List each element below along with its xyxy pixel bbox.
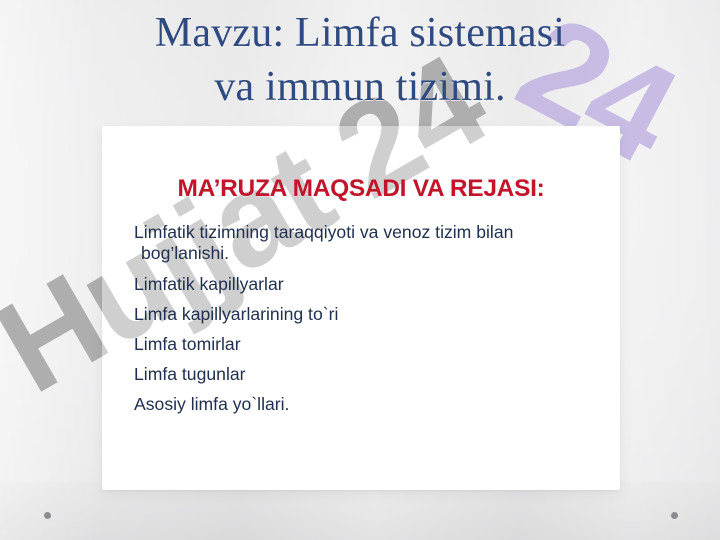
card-content: MA’RUZA MAQSADI VA REJASI: Limfatik tizi… [102, 126, 620, 490]
bottom-shading [0, 482, 720, 540]
decorative-dot-left [44, 512, 51, 519]
list-item: Limfa tugunlar [134, 364, 586, 385]
decorative-dot-right [671, 512, 678, 519]
presentation-slide: 24 Mavzu: Limfa sistemasi va immun tizim… [0, 0, 720, 540]
slide-title-line-2: va immun tizimi. [0, 60, 720, 114]
list-item: Limfatik kapillyarlar [134, 274, 586, 295]
content-card: Hujjat 24 MA’RUZA MAQSADI VA REJASI: Lim… [102, 126, 620, 490]
slide-title-line-1: Mavzu: Limfa sistemasi [0, 6, 720, 60]
list-item: Limfa tomirlar [134, 334, 586, 355]
list-item: Asosiy limfa yo`llari. [134, 394, 586, 415]
slide-title: Mavzu: Limfa sistemasi va immun tizimi. [0, 6, 720, 114]
objectives-list: Limfatik tizimning taraqqiyoti va venoz … [102, 203, 620, 415]
card-heading: MA’RUZA MAQSADI VA REJASI: [102, 126, 620, 203]
list-item: Limfatik tizimning taraqqiyoti va venoz … [134, 222, 593, 264]
list-item: Limfa kapillyarlarining to`ri [134, 304, 586, 325]
